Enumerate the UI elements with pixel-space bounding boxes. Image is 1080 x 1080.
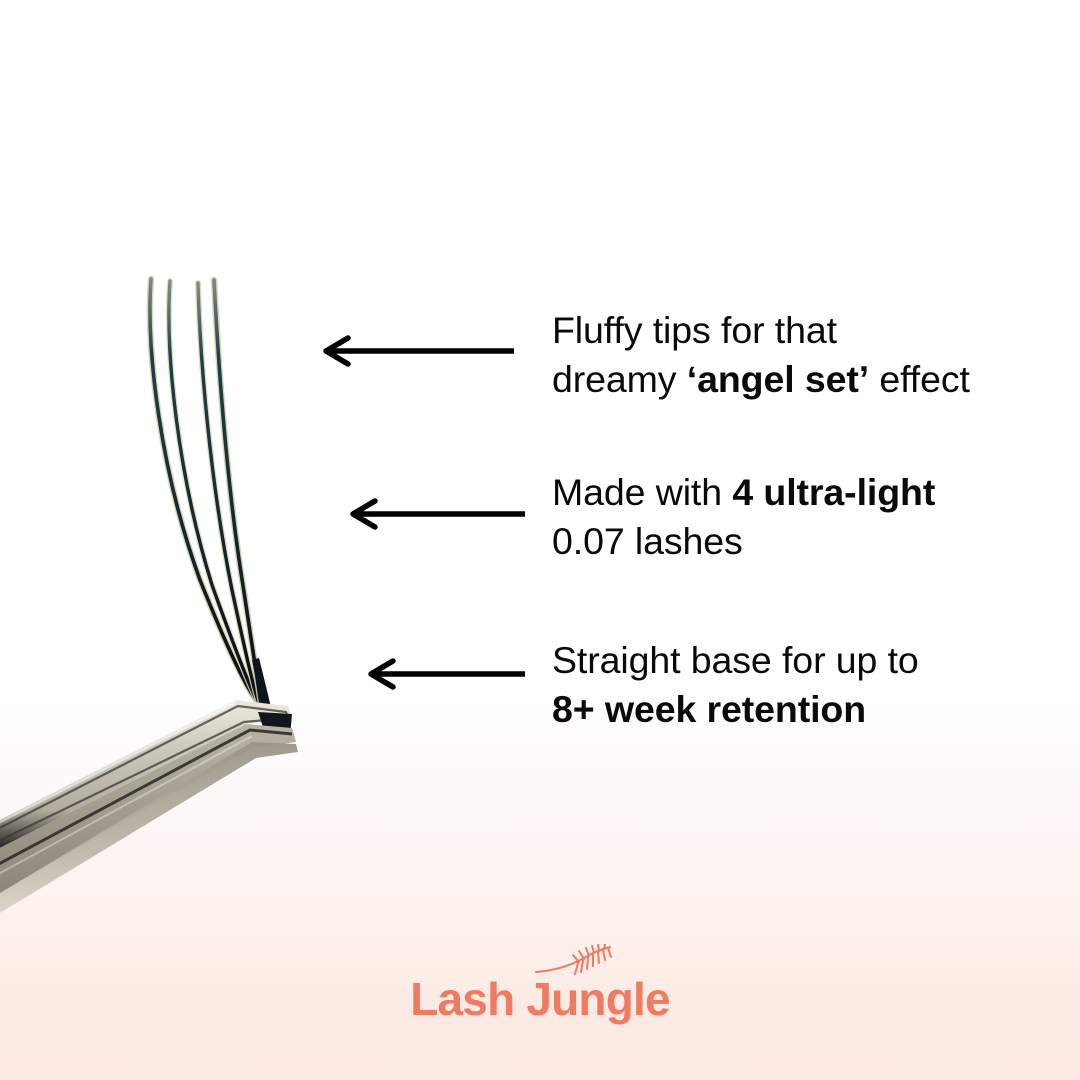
callout-text-retention: Straight base for up to 8+ week retentio… — [552, 636, 1022, 734]
callout-arrow-3 — [367, 654, 525, 694]
brand-wordmark: Lash Jungle — [410, 976, 670, 1022]
brand-logo: Lash Jungle — [0, 944, 1080, 1034]
callout-text-ultra-light-lashes: Made with 4 ultra-light 0.07 lashes — [552, 468, 1022, 566]
callout-line: 0.07 lashes — [552, 517, 1022, 566]
callout-line: Made with 4 ultra-light — [552, 468, 1022, 517]
callout-segment: effect — [869, 358, 970, 400]
callout-segment-bold: 8+ week retention — [552, 688, 866, 730]
callout-segment: 0.07 lashes — [552, 520, 743, 562]
callout-line: Straight base for up to — [552, 636, 1022, 685]
callout-segment: Fluffy tips for that — [552, 309, 837, 351]
callout-segment-bold: ‘angel set’ — [687, 358, 869, 400]
image-canvas: Fluffy tips for that dreamy ‘angel set’ … — [0, 0, 1080, 1080]
callout-line: Fluffy tips for that — [552, 306, 1022, 355]
callout-line: 8+ week retention — [552, 685, 1022, 734]
callout-segment: Made with — [552, 471, 732, 513]
callout-arrow-2 — [349, 494, 525, 534]
callout-segment: dreamy — [552, 358, 687, 400]
lash-fiber-4 — [214, 280, 261, 704]
callout-arrow-1 — [322, 331, 514, 371]
lash-fan-photo — [0, 0, 420, 920]
callout-segment: Straight base for up to — [552, 639, 919, 681]
callout-segment-bold: 4 ultra-light — [732, 471, 935, 513]
callout-line: dreamy ‘angel set’ effect — [552, 355, 1022, 404]
callout-text-fluffy-tips: Fluffy tips for that dreamy ‘angel set’ … — [552, 306, 1022, 404]
